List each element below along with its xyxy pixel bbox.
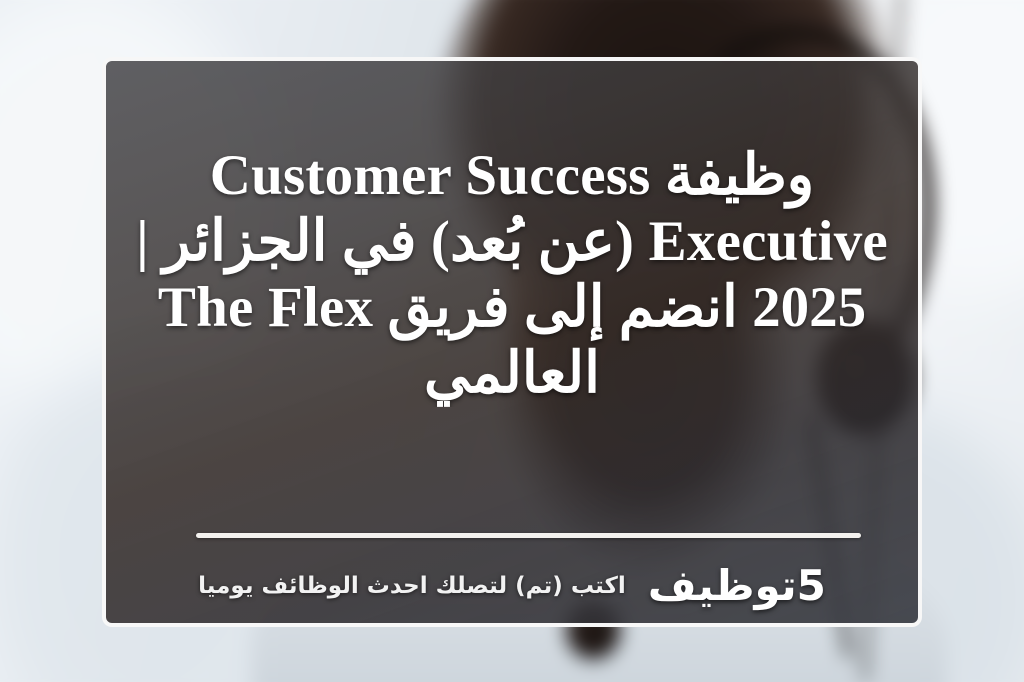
overlay-panel: وظيفة Customer Success Executive (عن بُع… (102, 57, 922, 627)
footer-tagline: اكتب (تم) لتصلك احدث الوظائف يوميا (198, 575, 626, 598)
poster-canvas: وظيفة Customer Success Executive (عن بُع… (0, 0, 1024, 682)
divider (196, 533, 861, 538)
brand-logo-text: 5توظيف (648, 565, 826, 607)
page-title: وظيفة Customer Success Executive (عن بُع… (106, 143, 918, 407)
footer-bar: 5توظيف اكتب (تم) لتصلك احدث الوظائف يومي… (106, 549, 918, 623)
